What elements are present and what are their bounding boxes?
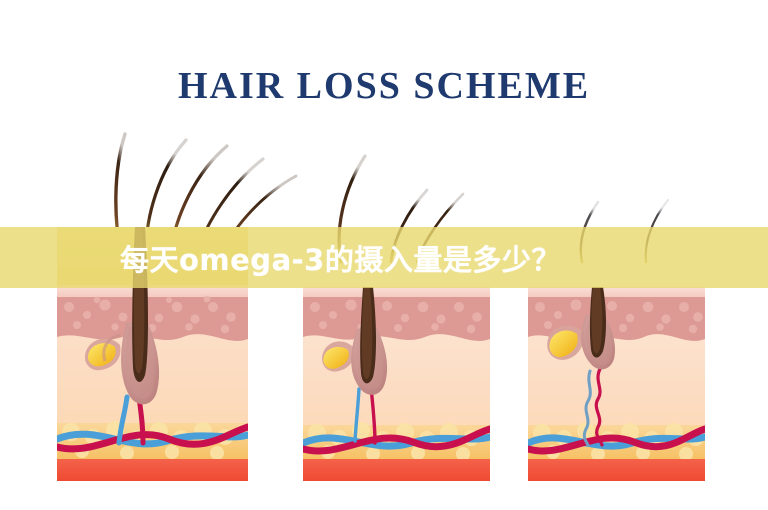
diagram-panel-stage-1 (57, 110, 248, 481)
diagram-panel-stage-2 (303, 150, 490, 481)
illustration-canvas: HAIR LOSS SCHEME (0, 0, 768, 510)
overlay-banner-text: 每天omega-3的摄入量是多少？ (120, 227, 561, 288)
page-title: HAIR LOSS SCHEME (0, 64, 768, 108)
diagram-panel-stage-3 (528, 170, 705, 481)
skin-cross-section-stage-2 (303, 287, 490, 481)
skin-cross-section-stage-3 (528, 287, 705, 481)
